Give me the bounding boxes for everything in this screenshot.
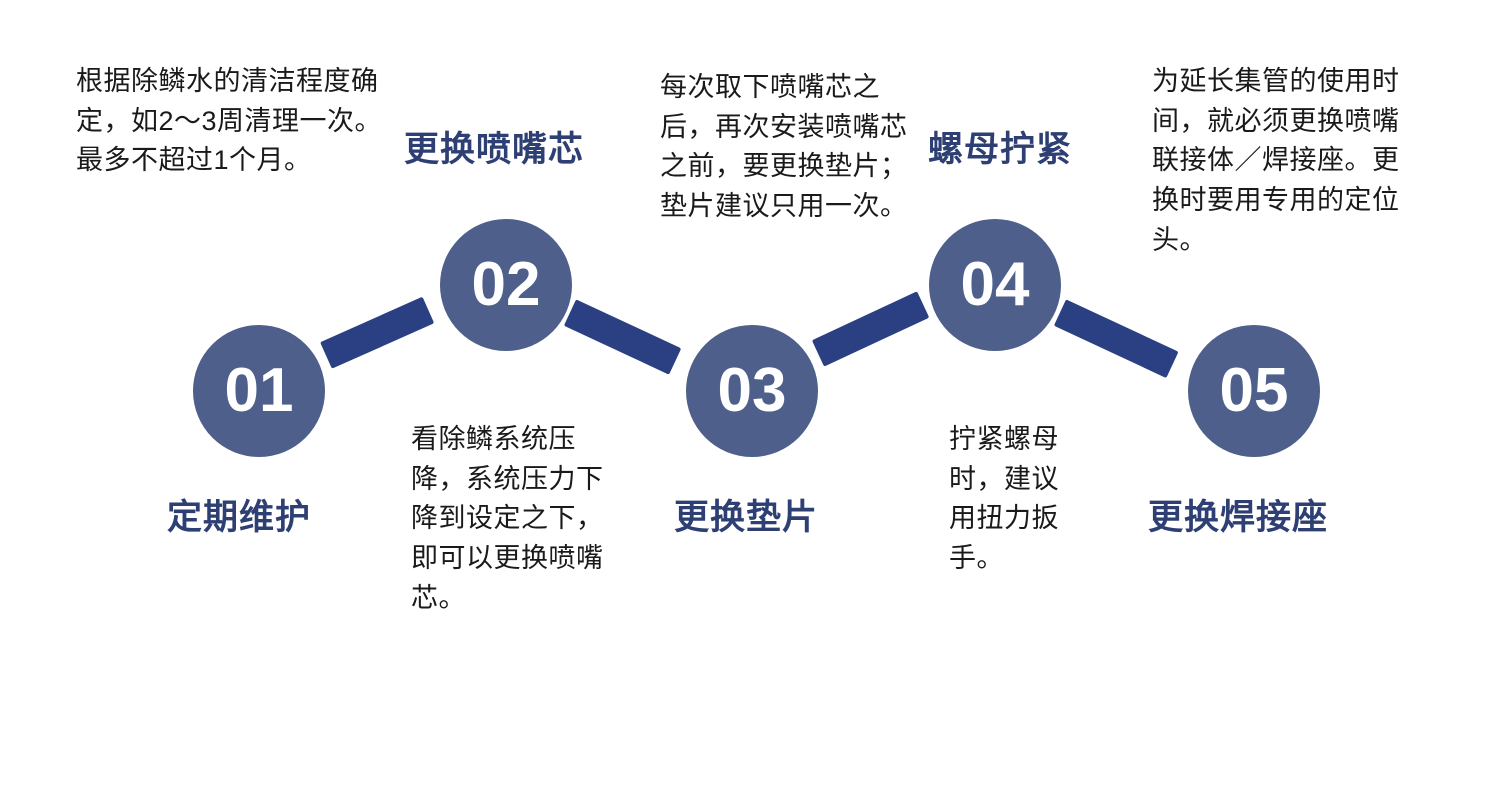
step-02-circle[interactable]: 02 [440, 219, 572, 351]
step-02-body: 看除鳞系统压降，系统压力下降到设定之下，即可以更换喷嘴芯。 [411, 420, 626, 618]
step-04-circle[interactable]: 04 [929, 219, 1061, 351]
step-04-title: 螺母拧紧 [928, 130, 1072, 170]
step-02-title: 更换喷嘴芯 [404, 130, 584, 170]
step-01-title: 定期维护 [167, 498, 311, 538]
step-05-number: 05 [1220, 360, 1289, 422]
step-04-body: 拧紧螺母时，建议用扭力扳手。 [949, 420, 1077, 579]
step-04-number: 04 [961, 254, 1030, 316]
step-03-number: 03 [718, 360, 787, 422]
step-01-circle[interactable]: 01 [193, 325, 325, 457]
step-03-title: 更换垫片 [674, 498, 818, 538]
step-05-body: 为延长集管的使用时间，就必须更换喷嘴联接体／焊接座。更换时要用专用的定位头。 [1152, 62, 1422, 260]
step-02-number: 02 [472, 254, 541, 316]
connector-04-to-05 [1054, 299, 1179, 378]
connector-03-to-04 [812, 291, 929, 366]
connector-02-to-03 [564, 299, 681, 374]
step-05-circle[interactable]: 05 [1188, 325, 1320, 457]
step-01-body: 根据除鳞水的清洁程度确定，如2～3周清理一次。最多不超过1个月。 [76, 62, 396, 181]
connector-01-to-02 [320, 297, 434, 369]
step-01-number: 01 [225, 360, 294, 422]
process-flow-infographic: 根据除鳞水的清洁程度确定，如2～3周清理一次。最多不超过1个月。 01 定期维护… [0, 0, 1501, 807]
step-05-title: 更换焊接座 [1148, 498, 1328, 538]
step-03-circle[interactable]: 03 [686, 325, 818, 457]
step-03-body: 每次取下喷嘴芯之后，再次安装喷嘴芯之前，要更换垫片；垫片建议只用一次。 [660, 68, 908, 227]
